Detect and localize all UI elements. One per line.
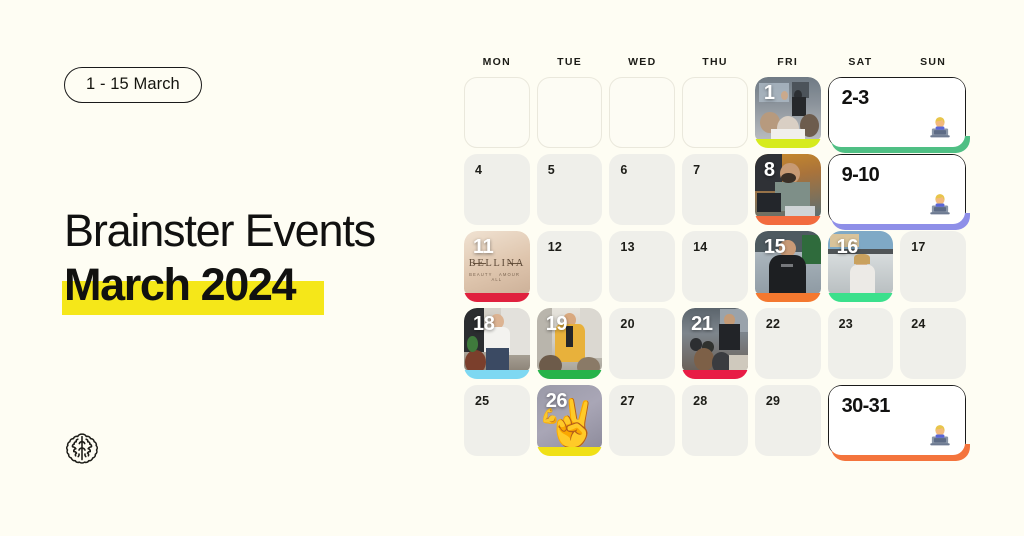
calendar-week-row: BELLINA BEAUTY AMOUR ALL 11121314 15 xyxy=(464,231,966,302)
day-number: 21 xyxy=(691,313,712,336)
calendar-day-empty-outside xyxy=(682,77,748,148)
calendar-weekday-header: MONTUEWEDTHUFRISATSUN xyxy=(464,56,966,68)
event-accent-bar xyxy=(537,447,603,456)
calendar-event-card-30-31[interactable]: 30-31 xyxy=(828,385,966,456)
event-card-body: 2-3 xyxy=(829,78,965,147)
weekday-header-sun: SUN xyxy=(900,56,966,68)
weekday-header-tue: TUE xyxy=(537,56,603,68)
calendar-weeks: 12-3 4567 89-10 xyxy=(464,77,966,456)
day-number: 14 xyxy=(693,240,707,254)
calendar-day-20[interactable]: 20 xyxy=(609,308,675,379)
calendar-day-13[interactable]: 13 xyxy=(609,231,675,302)
weekday-header-mon: MON xyxy=(464,56,530,68)
day-number: 6 xyxy=(620,163,627,177)
calendar-day-empty-outside xyxy=(609,77,675,148)
day-number: 15 xyxy=(764,236,785,259)
weekday-header-wed: WED xyxy=(609,56,675,68)
calendar-event-card-2-3[interactable]: 2-3 xyxy=(828,77,966,148)
calendar-day-12[interactable]: 12 xyxy=(537,231,603,302)
calendar-day-25[interactable]: 25 xyxy=(464,385,530,456)
calendar-day-1-event-tile[interactable]: 1 xyxy=(755,77,821,148)
calendar-day-22[interactable]: 22 xyxy=(755,308,821,379)
day-number: 4 xyxy=(475,163,482,177)
title-secondary-wrapper: March 2024 xyxy=(64,259,295,311)
day-number: 22 xyxy=(766,317,780,331)
calendar-day-19-event-tile[interactable]: 19 xyxy=(537,308,603,379)
day-number: 18 xyxy=(473,313,494,336)
calendar-day-4[interactable]: 4 xyxy=(464,154,530,225)
weekday-header-thu: THU xyxy=(682,56,748,68)
calendar: MONTUEWEDTHUFRISATSUN 12-3 xyxy=(464,56,966,462)
calendar-day-15-event-tile[interactable]: 15 xyxy=(755,231,821,302)
weekday-header-sat: SAT xyxy=(828,56,894,68)
calendar-day-26-event-tile[interactable]: 💪 ✌️ 26 xyxy=(537,385,603,456)
calendar-day-empty-outside xyxy=(464,77,530,148)
brainster-brain-logo xyxy=(64,430,100,466)
day-number: 12 xyxy=(548,240,562,254)
day-number: 26 xyxy=(546,390,567,413)
day-number: 13 xyxy=(620,240,634,254)
calendar-day-23[interactable]: 23 xyxy=(828,308,894,379)
event-accent-bar xyxy=(755,139,821,148)
calendar-week-row: 4567 89-10 xyxy=(464,154,966,225)
calendar-week-row: 18 1920 xyxy=(464,308,966,379)
left-panel: 1 - 15 March Brainster Events March 2024 xyxy=(0,0,460,536)
calendar-day-28[interactable]: 28 xyxy=(682,385,748,456)
day-number: 27 xyxy=(620,394,634,408)
day-number: 28 xyxy=(693,394,707,408)
event-accent-bar xyxy=(464,370,530,379)
event-accent-bar xyxy=(755,216,821,225)
calendar-day-16-event-tile[interactable]: 16 xyxy=(828,231,894,302)
calendar-day-21-event-tile[interactable]: 21 xyxy=(682,308,748,379)
day-number: 25 xyxy=(475,394,489,408)
calendar-day-14[interactable]: 14 xyxy=(682,231,748,302)
calendar-week-row: 12-3 xyxy=(464,77,966,148)
day-number: 16 xyxy=(837,236,858,259)
title-primary: Brainster Events xyxy=(64,205,454,257)
day-number: 17 xyxy=(911,240,925,254)
event-card-body: 9-10 xyxy=(829,155,965,224)
event-date-label: 30-31 xyxy=(842,395,890,418)
calendar-event-card-9-10[interactable]: 9-10 xyxy=(828,154,966,225)
calendar-day-6[interactable]: 6 xyxy=(609,154,675,225)
day-number: 19 xyxy=(546,313,567,336)
calendar-day-24[interactable]: 24 xyxy=(900,308,966,379)
person-with-laptop-icon xyxy=(927,113,953,139)
page-title: Brainster Events March 2024 xyxy=(64,205,454,311)
title-secondary: March 2024 xyxy=(64,259,295,311)
event-card-body: 30-31 xyxy=(829,386,965,455)
calendar-week-row: 25 💪 ✌️ 2627282930-31 xyxy=(464,385,966,456)
date-range-badge[interactable]: 1 - 15 March xyxy=(64,67,202,103)
calendar-day-5[interactable]: 5 xyxy=(537,154,603,225)
calendar-day-29[interactable]: 29 xyxy=(755,385,821,456)
day-number: 11 xyxy=(473,236,493,259)
day-number: 24 xyxy=(911,317,925,331)
day-number: 8 xyxy=(764,159,775,182)
event-accent-bar xyxy=(537,370,603,379)
day-number: 20 xyxy=(620,317,634,331)
calendar-day-17[interactable]: 17 xyxy=(900,231,966,302)
event-accent-bar xyxy=(682,370,748,379)
day-number: 29 xyxy=(766,394,780,408)
day-number: 7 xyxy=(693,163,700,177)
day-number: 5 xyxy=(548,163,555,177)
event-accent-bar xyxy=(464,293,530,302)
day-number: 1 xyxy=(764,82,775,105)
person-with-laptop-icon xyxy=(927,190,953,216)
event-date-label: 2-3 xyxy=(842,87,869,110)
day-number: 23 xyxy=(839,317,853,331)
calendar-day-11-event-tile[interactable]: BELLINA BEAUTY AMOUR ALL 11 xyxy=(464,231,530,302)
event-date-label: 9-10 xyxy=(842,164,880,187)
calendar-day-8-event-tile[interactable]: 8 xyxy=(755,154,821,225)
calendar-day-27[interactable]: 27 xyxy=(609,385,675,456)
event-accent-bar xyxy=(755,293,821,302)
calendar-day-empty-outside xyxy=(537,77,603,148)
weekday-header-fri: FRI xyxy=(755,56,821,68)
event-accent-bar xyxy=(828,293,894,302)
person-with-laptop-icon xyxy=(927,421,953,447)
calendar-day-7[interactable]: 7 xyxy=(682,154,748,225)
calendar-day-18-event-tile[interactable]: 18 xyxy=(464,308,530,379)
